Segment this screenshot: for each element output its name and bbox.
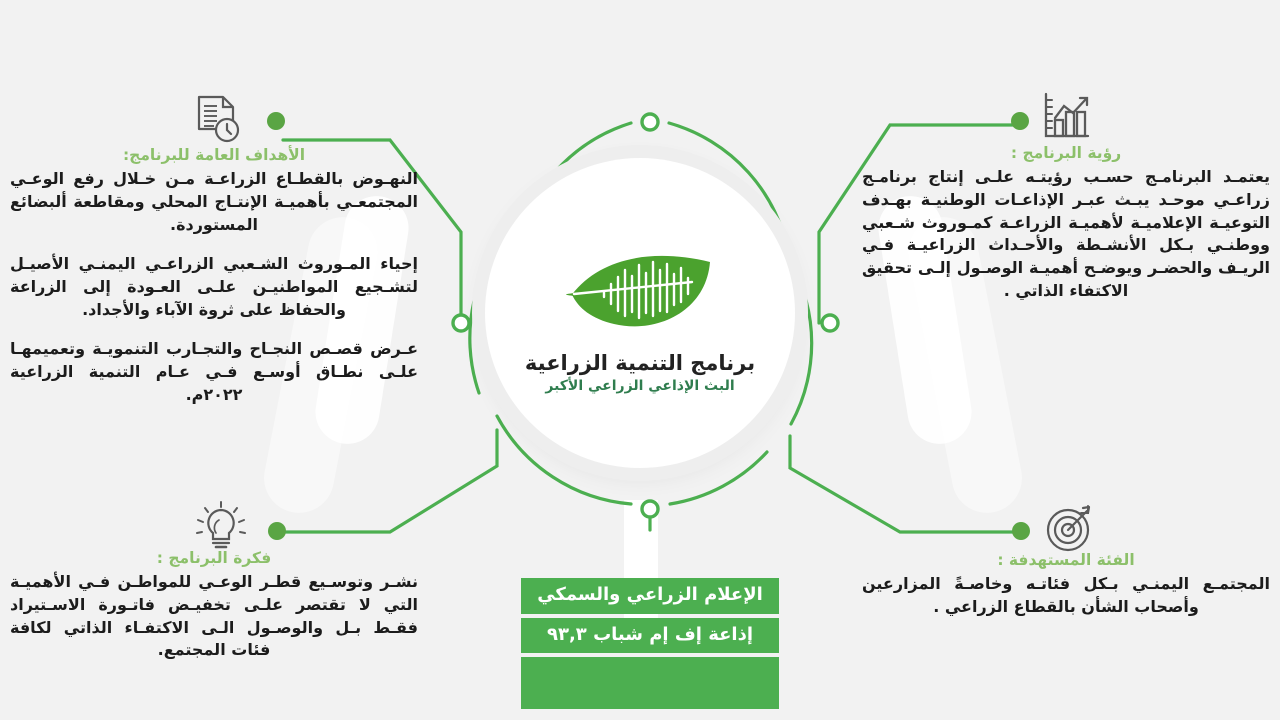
bar-chart-icon	[1036, 88, 1094, 146]
panel-target: الفئة المستهدفة : المجتمـع اليمنـي بـكل …	[862, 550, 1270, 619]
banner-item-2: إذاعة إف إم شباب ٩٣,٣	[521, 618, 779, 654]
panel-vision-heading: رؤية البرنامج :	[862, 143, 1270, 163]
center-subtitle: البث الإذاعي الزراعي الأكبر	[545, 378, 734, 394]
node-left	[453, 315, 469, 331]
panel-goals-paragraph-3: عـرض قصـص النجـاح والتجـارب التنمويـة وت…	[10, 338, 418, 406]
panel-idea-heading: فكرة البرنامج :	[10, 548, 418, 568]
leaf-waveform-icon	[560, 232, 720, 338]
panel-vision-paragraph-1: يعتمـد البرنامـج حسـب رؤيتـه علـى إنتاج …	[862, 166, 1270, 302]
panel-goals-paragraph-2: إحياء المـوروث الشـعبي الزراعـي اليمنـي …	[10, 253, 418, 321]
node-bottom	[642, 501, 658, 517]
endpoint-dot-top-left	[267, 112, 285, 130]
infographic-canvas: برنامج التنمية الزراعية البث الإذاعي الز…	[0, 0, 1280, 720]
panel-vision: رؤية البرنامج : يعتمـد البرنامـج حسـب رؤ…	[862, 143, 1270, 302]
banner-item-3	[521, 657, 779, 709]
banner-item-1: الإعلام الزراعي والسمكي	[521, 578, 779, 614]
center-title: برنامج التنمية الزراعية	[525, 350, 755, 376]
endpoint-dot-top-right	[1011, 112, 1029, 130]
node-top	[642, 114, 658, 130]
panel-goals-heading: الأهداف العامة للبرنامج:	[10, 145, 418, 165]
panel-goals: الأهداف العامة للبرنامج: النهـوض بالقطـا…	[10, 145, 418, 407]
panel-idea-paragraph-1: نشـر وتوسـيع قطـر الوعـي للمواطـن فـي ال…	[10, 571, 418, 662]
panel-idea: فكرة البرنامج : نشـر وتوسـيع قطـر الوعـي…	[10, 548, 418, 662]
endpoint-dot-bottom-left	[268, 522, 286, 540]
node-right	[822, 315, 838, 331]
panel-goals-paragraph-1: النهـوض بالقطـاع الزراعـة مـن خـلال رفع …	[10, 168, 418, 236]
center-hub: برنامج التنمية الزراعية البث الإذاعي الز…	[497, 170, 783, 456]
arc-left	[470, 301, 479, 393]
panel-target-heading: الفئة المستهدفة :	[862, 550, 1270, 570]
panel-target-paragraph-1: المجتمـع اليمنـي بـكل فئاتـه وخاصـةً الم…	[862, 573, 1270, 618]
wire-bottom-right	[790, 436, 1018, 532]
banner-stack: الإعلام الزراعي والسمكي إذاعة إف إم شباب…	[521, 578, 779, 709]
endpoint-dot-bottom-right	[1012, 522, 1030, 540]
document-clock-icon	[190, 92, 248, 150]
